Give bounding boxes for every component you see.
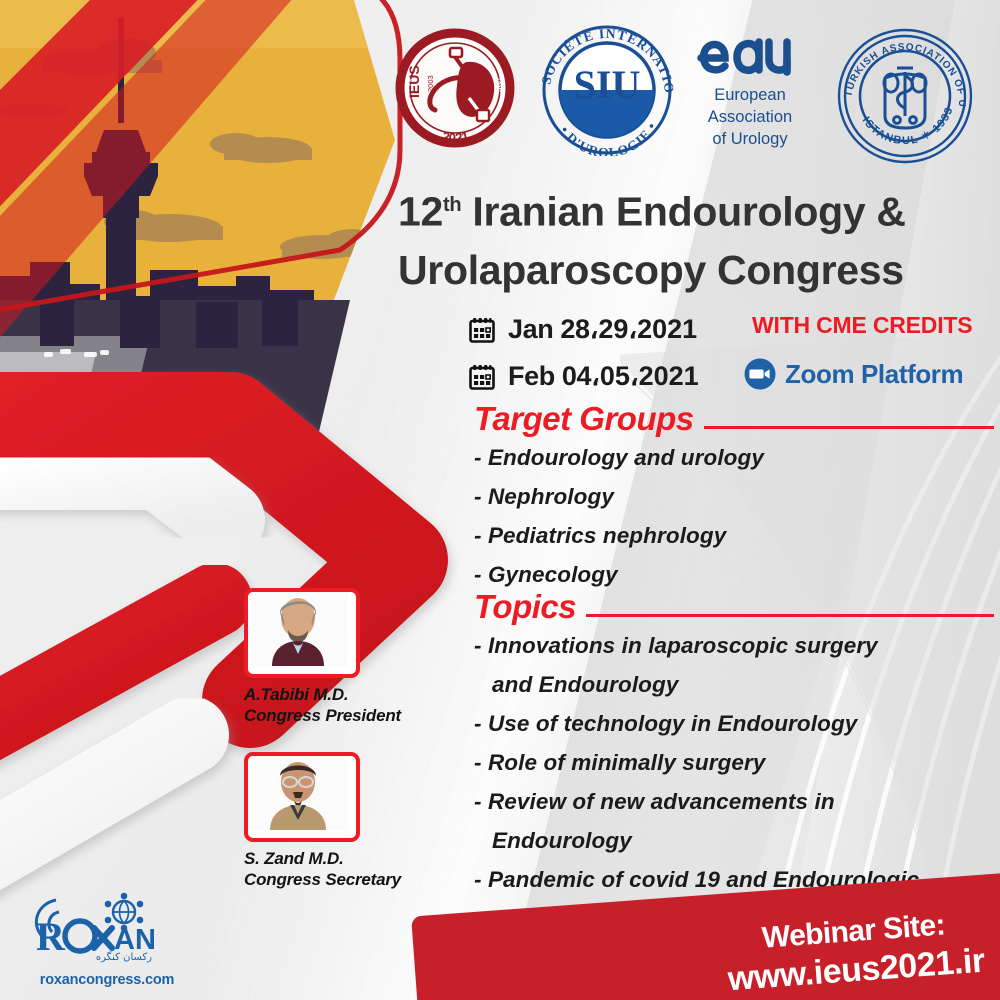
list-item: - Innovations in laparoscopic surgery [474,626,994,665]
speaker-name-role: A.Tabibi M.D. Congress President [244,684,464,726]
eau-sub-line1: European [695,85,805,105]
svg-text:2003: 2003 [426,75,435,92]
list-item: - Role of minimally surgery [474,743,994,782]
eau-sub-line3: of Urology [695,129,805,149]
siu-logo: SIU SOCIÉTÉ INTERNATIONALE • D'UROLOGIE … [528,24,686,161]
cme-credits-label: WITH CME CREDITS [752,312,972,339]
list-item: - Nephrology [474,477,994,516]
target-groups-section: Target Groups - Endourology and urology … [474,400,994,594]
congress-poster: 12ᵗʰ Iranian Endourology & Urolaparoscop… [0,0,1000,1000]
section-rule [704,426,994,429]
list-item: - Endourology and urology [474,438,994,477]
speaker-role: Congress President [244,706,401,725]
white-chevron [0,470,225,520]
date-text-2: Feb 04،05،2021 [508,361,699,392]
topics-header: Topics [474,588,994,626]
speaker-role: Congress Secretary [244,870,401,889]
speaker-name-role: S. Zand M.D. Congress Secretary [244,848,464,890]
eau-wordmark-icon [695,32,805,78]
speaker-name: S. Zand M.D. [244,849,344,868]
eau-logo: European Association of Urology [695,32,805,149]
title-ordinal: th [443,194,461,216]
title-number: 12 [398,189,443,235]
svg-text:IEUS: IEUS [406,65,422,98]
date-text-1: Jan 28،29،2021 [508,314,697,345]
zoom-platform-label: Zoom Platform [785,359,963,390]
tau-logo: TURKISH ASSOCIATION OF UROLOGY ISTANBUL … [835,26,975,171]
roxan-persian: رکسان کنگره [96,951,152,963]
list-item: - Use of technology in Endourology [474,704,994,743]
list-item: - Pediatrics nephrology [474,516,994,555]
eau-sub-line2: Association [695,107,805,127]
avatar [244,752,360,842]
roxan-domain[interactable]: roxancongress.com [22,972,192,988]
zoom-video-icon [744,358,776,390]
list-item: Endourology [474,821,994,860]
svg-text:SIU: SIU [574,62,641,107]
page-title: 12th Iranian Endourology & Urolaparoscop… [398,176,998,299]
list-item: - Review of new advancements in [474,782,994,821]
white-bar [0,735,190,880]
speaker-card: S. Zand M.D. Congress Secretary [244,752,464,890]
topics-title: Topics [474,588,576,626]
title-line2: Urolaparoscopy Congress [398,247,904,293]
calendar-icon [468,363,496,391]
roxan-logo[interactable]: R AN رکسان کنگره roxancongress.com [22,892,192,988]
target-groups-title: Target Groups [474,400,694,438]
portrait-tabibi [248,592,348,666]
avatar [244,588,360,678]
ieus-logo: 12ᵗʰ Iranian Endourology & Urolaparoscop… [395,26,515,155]
svg-text:ISTANBUL ✶ 1933: ISTANBUL ✶ 1933 [860,105,956,147]
speaker-card: A.Tabibi M.D. Congress President [244,588,464,726]
svg-text:R: R [36,914,66,959]
target-groups-header: Target Groups [474,400,994,438]
list-item: and Endourology [474,665,994,704]
section-rule [586,614,994,617]
title-line1: Iranian Endourology & [472,189,905,235]
logo-row: 12ᵗʰ Iranian Endourology & Urolaparoscop… [395,18,995,168]
zoom-platform-row: Zoom Platform [744,358,963,390]
calendar-icon [468,316,496,344]
speaker-name: A.Tabibi M.D. [244,685,348,704]
portrait-zand [248,756,348,830]
